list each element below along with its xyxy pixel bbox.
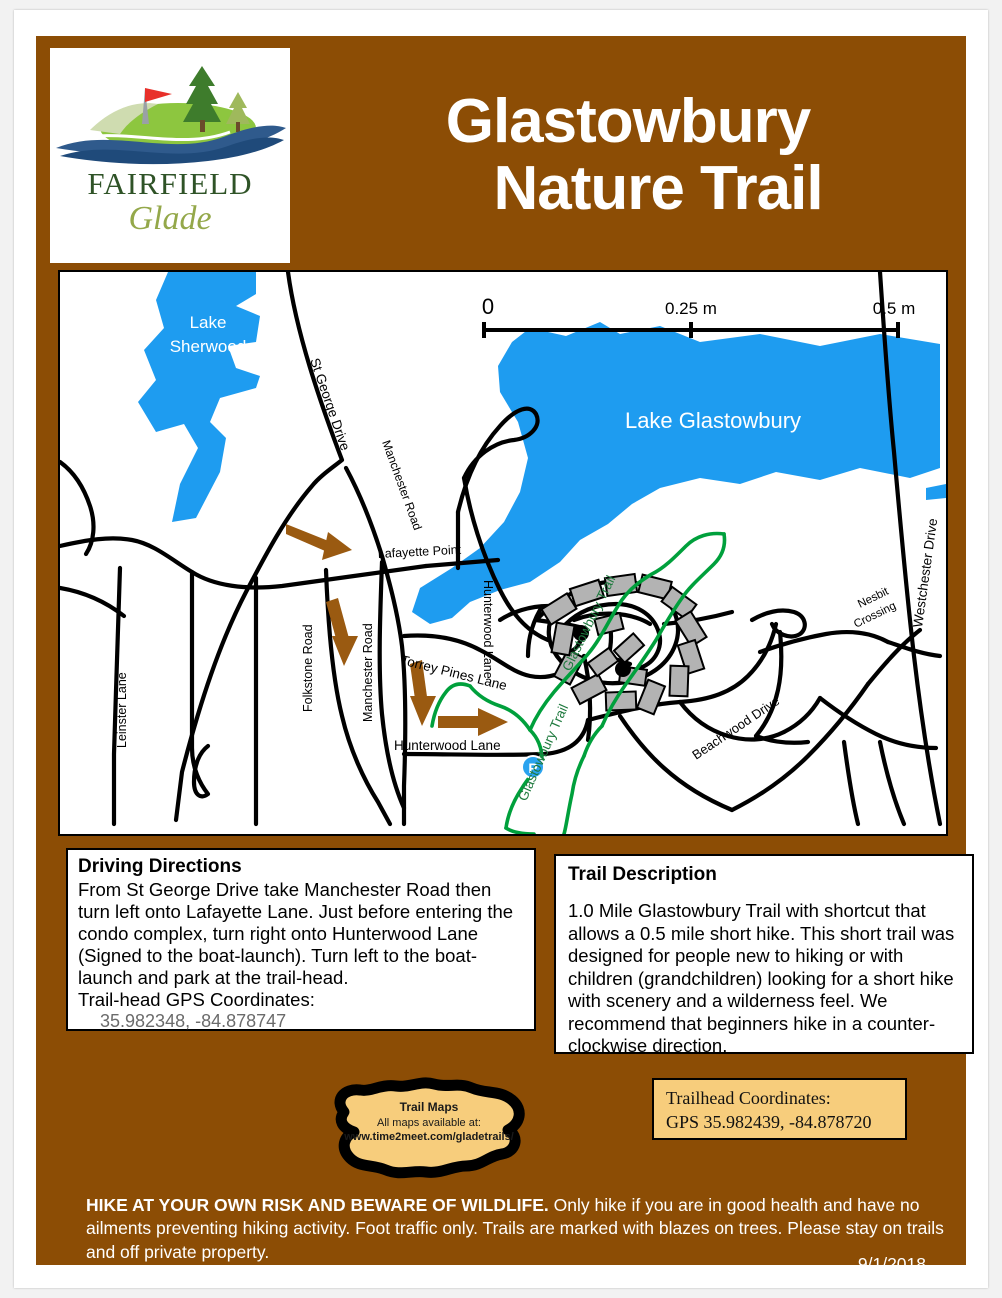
trail-maps-badge[interactable]: Trail Maps All maps available at: www.ti…	[316, 1074, 542, 1184]
label-manchester-road-lower: Manchester Road	[361, 623, 375, 722]
footer-text: HIKE AT YOUR OWN RISK AND BEWARE OF WILD…	[86, 1194, 964, 1264]
driving-directions-box: Driving Directions From St George Drive …	[66, 848, 536, 1031]
badge-title: Trail Maps	[316, 1100, 542, 1116]
map-canvas: P 0 0.25 m 0.5 m Lake Sherwood Lake Glas	[60, 272, 946, 834]
trail-map[interactable]: P 0 0.25 m 0.5 m Lake Sherwood Lake Glas	[58, 270, 948, 836]
trail-description-heading: Trail Description	[568, 864, 960, 886]
lake-glastowbury-label: Lake Glastowbury	[625, 408, 801, 433]
brown-panel: FAIRFIELD Glade Glastowbury Nature Trail	[36, 36, 966, 1265]
driving-directions-heading: Driving Directions	[78, 856, 524, 878]
trail-description-box: Trail Description 1.0 Mile Glastowbury T…	[554, 854, 974, 1054]
page-root: FAIRFIELD Glade Glastowbury Nature Trail	[0, 0, 1002, 1298]
lake-sherwood-label-line1: Lake	[190, 313, 227, 332]
label-hunterwood-lane-horizontal: Hunterwood Lane	[394, 738, 501, 753]
title-line-2: Nature Trail	[433, 156, 822, 223]
trailhead-coordinates-box: Trailhead Coordinates: GPS 35.982439, -8…	[652, 1078, 907, 1140]
badge-subtitle: All maps available at:	[316, 1116, 542, 1131]
label-hunterwood-lane-vertical: Hunterwood Lane	[481, 580, 495, 679]
fairfield-glade-logo: FAIRFIELD Glade	[50, 48, 290, 263]
scale-label-end: 0.5 m	[873, 299, 916, 318]
trailhead-gps-value: 35.982348, -84.878747	[78, 1011, 524, 1032]
footer-warning: HIKE AT YOUR OWN RISK AND BEWARE OF WILD…	[58, 1178, 988, 1291]
trailhead-coordinates-value: GPS 35.982439, -84.878720	[666, 1111, 893, 1135]
footer-warning-headline: HIKE AT YOUR OWN RISK AND BEWARE OF WILD…	[86, 1195, 549, 1215]
golf-course-logo-icon	[50, 52, 290, 172]
trailhead-gps-label: Trail-head GPS Coordinates:	[78, 989, 524, 1011]
map-sheet: FAIRFIELD Glade Glastowbury Nature Trail	[14, 10, 988, 1288]
scale-label-mid: 0.25 m	[665, 299, 717, 318]
page-title: Glastowbury Nature Trail	[304, 48, 952, 263]
scale-label-zero: 0	[482, 294, 494, 319]
title-line-1: Glastowbury	[446, 89, 811, 156]
driving-directions-body: From St George Drive take Manchester Roa…	[78, 879, 524, 989]
lake-sherwood-label-line2: Sherwood	[170, 337, 247, 356]
footer-date: 9/1/2018	[858, 1254, 926, 1275]
logo-name-bottom: Glade	[50, 200, 290, 238]
logo-name-top: FAIRFIELD	[50, 166, 290, 202]
label-folkstone-road: Folkstone Road	[301, 624, 315, 712]
label-leinster-lane: Leinster Lane	[115, 672, 129, 748]
badge-url[interactable]: www.time2meet.com/gladetrails/	[316, 1130, 542, 1145]
trailhead-coordinates-label: Trailhead Coordinates:	[666, 1087, 893, 1111]
badge-text-group: Trail Maps All maps available at: www.ti…	[316, 1100, 542, 1145]
trail-description-body: 1.0 Mile Glastowbury Trail with shortcut…	[568, 900, 960, 1058]
